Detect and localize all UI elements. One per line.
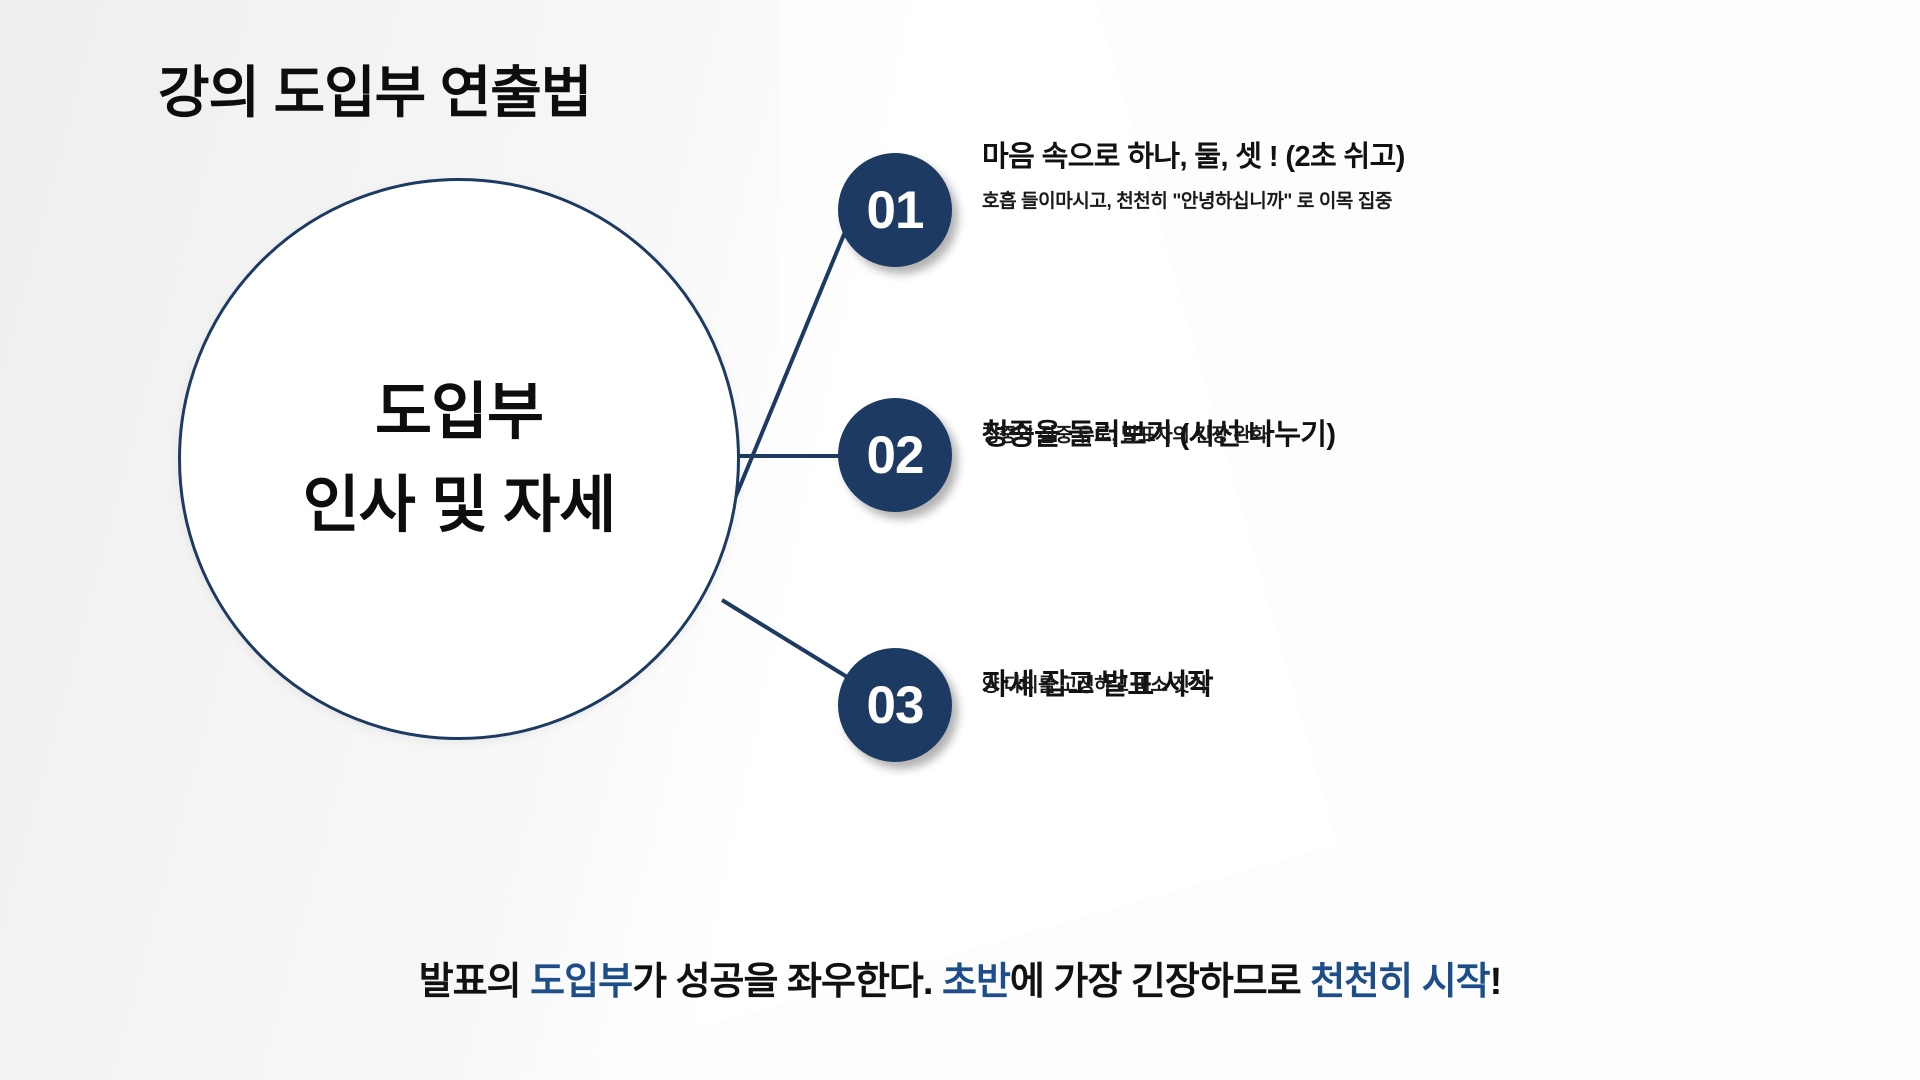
step-text-03: 자세 잡고 발표 시작 양 다리를 고정하고 미소 짓기 bbox=[982, 668, 1512, 700]
step-text-01: 마음 속으로 하나, 둘, 셋 ! (2초 쉬고) 호흡 들이마시고, 천천히 … bbox=[982, 140, 1512, 216]
hub-label-line1: 도입부 bbox=[375, 373, 543, 452]
step-text-02: 청중을 둘러보기 (시선 나누기) 청중의 집중 유도, 발표자의 긴장 완화 bbox=[982, 418, 1512, 450]
caption-part-4: ! bbox=[1490, 961, 1502, 1003]
step-badge-01[interactable]: 01 bbox=[838, 153, 952, 267]
step-subtitle-03: 양 다리를 고정하고 미소 짓기 bbox=[982, 672, 1412, 700]
step-subtitle-02: 청중의 집중 유도, 발표자의 긴장 완화 bbox=[982, 422, 1412, 450]
slide-caption: 발표의 도입부가 성공을 좌우한다. 초반에 가장 긴장하므로 천천히 시작! bbox=[0, 950, 1920, 1005]
slide-canvas: 강의 도입부 연출법 도입부 인사 및 자세 01 02 03 마음 속으로 하… bbox=[0, 0, 1920, 1080]
hub-label-line2: 인사 및 자세 bbox=[303, 466, 616, 545]
step-subtitle-01: 호흡 들이마시고, 천천히 "안녕하십니까" 로 이목 집중 bbox=[982, 188, 1412, 216]
step-heading-01: 마음 속으로 하나, 둘, 셋 ! (2초 쉬고) bbox=[982, 140, 1512, 174]
page-title: 강의 도입부 연출법 bbox=[158, 48, 591, 129]
caption-part-1: 발표의 bbox=[419, 961, 530, 1003]
caption-accent-3: 천천히 시작 bbox=[1310, 961, 1489, 1003]
hub-circle: 도입부 인사 및 자세 bbox=[178, 178, 740, 740]
step-badge-03[interactable]: 03 bbox=[838, 648, 952, 762]
caption-part-3: 에 가장 긴장하므로 bbox=[1010, 961, 1310, 1003]
step-badge-02[interactable]: 02 bbox=[838, 398, 952, 512]
caption-accent-2: 초반 bbox=[942, 961, 1010, 1003]
caption-part-2: 가 성공을 좌우한다. bbox=[632, 961, 942, 1003]
caption-accent-1: 도입부 bbox=[530, 961, 632, 1003]
